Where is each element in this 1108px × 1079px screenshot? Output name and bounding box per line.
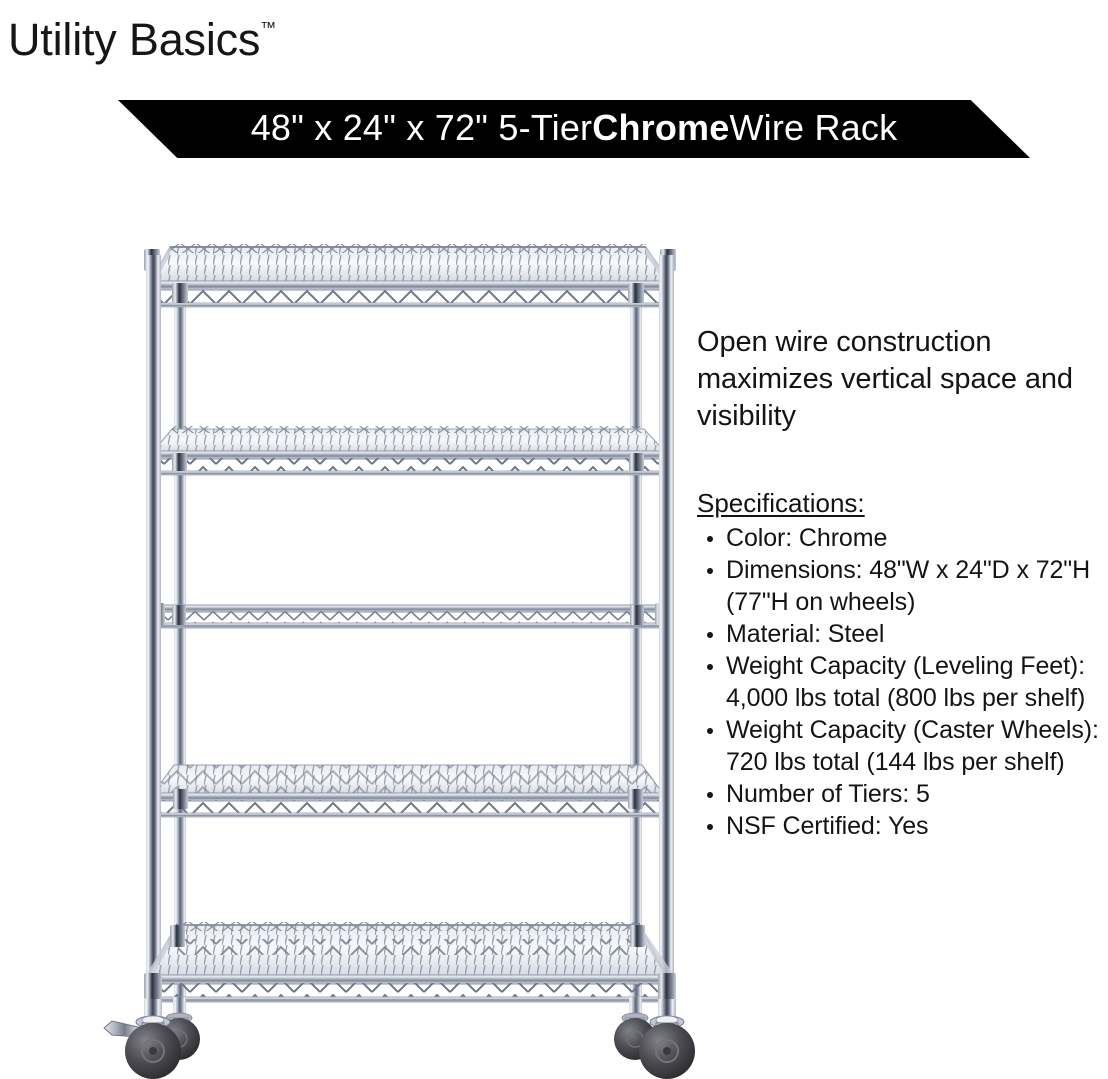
title-banner-text: 48" x 24" x 72" 5-Tier Chrome Wire Rack [118, 100, 1030, 158]
shelf-collar [658, 973, 676, 999]
spec-item: Weight Capacity (Caster Wheels): 720 lbs… [697, 714, 1105, 778]
shelf-collar [173, 789, 188, 809]
banner-suffix: Wire Rack [729, 108, 897, 148]
shelf-collar [144, 973, 162, 999]
shelf-4 [146, 765, 674, 817]
spec-item: Weight Capacity (Leveling Feet): 4,000 l… [697, 650, 1105, 714]
brand-logo: Utility Basics™ [8, 2, 276, 67]
shelf-2 [146, 426, 674, 475]
brand-name: Utility Basics [8, 14, 260, 65]
shelf-collar [629, 453, 644, 471]
shelf-collar [172, 605, 186, 625]
post-front-right [659, 255, 674, 1015]
spec-item: NSF Certified: Yes [697, 810, 1105, 842]
banner-emphasis: Chrome [592, 108, 729, 148]
wire-rack-illustration [60, 225, 700, 1079]
trademark-symbol: ™ [260, 20, 276, 37]
spec-item: Material: Steel [697, 618, 1105, 650]
shelf-5 [144, 922, 676, 1002]
shelf-collar [628, 283, 644, 303]
shelf-collar [172, 453, 187, 471]
shelf-collar [172, 283, 188, 303]
copy-column: Open wire construction maximizes vertica… [697, 324, 1105, 842]
banner-prefix: 48" x 24" x 72" 5-Tier [251, 108, 593, 148]
spec-item: Number of Tiers: 5 [697, 778, 1105, 810]
front-posts [146, 255, 674, 1015]
product-image [60, 225, 700, 1079]
spec-item: Color: Chrome [697, 522, 1105, 554]
specifications-heading: Specifications: [697, 487, 1105, 520]
shelf-collar [630, 925, 645, 947]
caster-front-right [639, 999, 695, 1079]
shelf-collar [170, 925, 185, 947]
title-banner: 48" x 24" x 72" 5-Tier Chrome Wire Rack [118, 100, 1030, 158]
product-infographic: Utility Basics™ 48" x 24" x 72" 5-Tier C… [0, 0, 1108, 1079]
caster-front-left [104, 999, 181, 1079]
post-front-left [146, 255, 161, 1015]
shelf-1 [144, 244, 676, 307]
shelf-collar [630, 605, 644, 625]
shelf-collar [628, 789, 643, 809]
shelf-3 [150, 603, 670, 628]
headline-text: Open wire construction maximizes vertica… [697, 324, 1105, 435]
spec-item: Dimensions: 48"W x 24"D x 72"H (77"H on … [697, 554, 1105, 618]
specifications-list: Color: Chrome Dimensions: 48"W x 24"D x … [697, 522, 1105, 842]
